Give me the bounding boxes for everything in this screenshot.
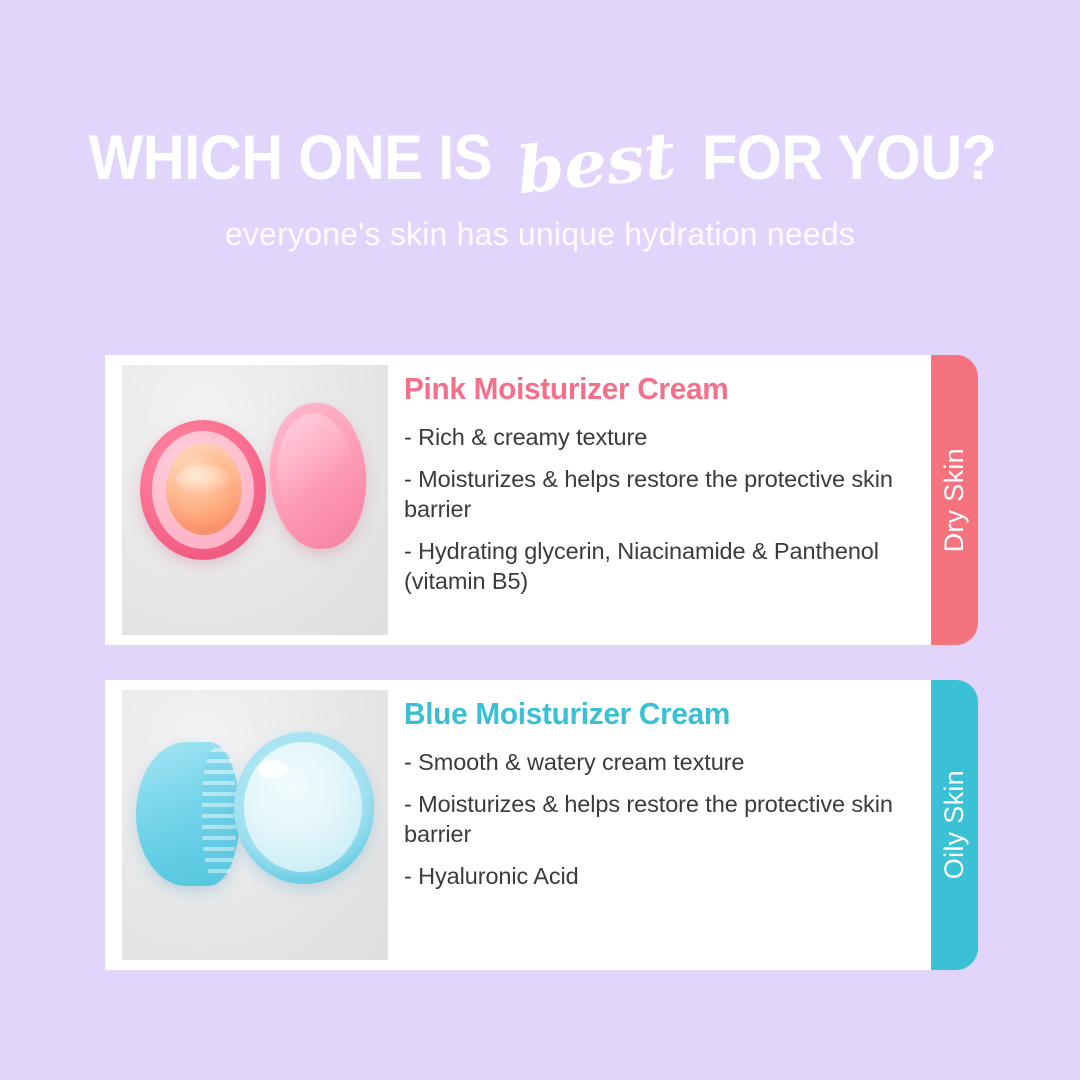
- product-card-pink[interactable]: Pink Moisturizer Cream - Rich & creamy t…: [105, 355, 931, 645]
- product-bullet: - Moisturizes & helps restore the protec…: [404, 464, 909, 524]
- product-bullet: - Hydrating glycerin, Niacinamide & Pant…: [404, 536, 909, 596]
- product-details-blue: Blue Moisturizer Cream - Smooth & watery…: [388, 680, 931, 970]
- skin-type-tab-label: Dry Skin: [939, 448, 970, 552]
- product-bullet: - Moisturizes & helps restore the protec…: [404, 789, 909, 849]
- headline-pre-text: WHICH ONE IS: [89, 127, 492, 190]
- headline-post-text: FOR YOU?: [701, 127, 996, 190]
- blue-cream-shape: [244, 742, 362, 872]
- header: WHICH ONE IS best FOR YOU? everyone's sk…: [0, 0, 1080, 253]
- pink-jar-lid-shape: [265, 400, 371, 552]
- product-image-blue: [122, 690, 388, 960]
- product-title-pink: Pink Moisturizer Cream: [404, 373, 889, 406]
- skin-type-tab-label: Oily Skin: [939, 770, 970, 879]
- product-details-pink: Pink Moisturizer Cream - Rich & creamy t…: [388, 355, 931, 645]
- blue-jar-photo: [122, 690, 388, 960]
- product-bullet: - Smooth & watery cream texture: [404, 747, 909, 777]
- page-title: WHICH ONE IS best FOR YOU?: [0, 126, 1080, 190]
- product-image-pink: [122, 365, 388, 635]
- pink-cream-shape: [166, 443, 242, 535]
- product-bullet: - Rich & creamy texture: [404, 422, 909, 452]
- product-bullet: - Hyaluronic Acid: [404, 861, 909, 891]
- blue-jar-lid-shape: [136, 742, 240, 886]
- product-title-blue: Blue Moisturizer Cream: [404, 698, 889, 731]
- product-card-blue[interactable]: Blue Moisturizer Cream - Smooth & watery…: [105, 680, 931, 970]
- product-card-list: Pink Moisturizer Cream - Rich & creamy t…: [105, 355, 975, 970]
- page-subtitle: everyone's skin has unique hydration nee…: [0, 216, 1080, 253]
- skin-type-tab-dry[interactable]: Dry Skin: [931, 355, 978, 645]
- pink-jar-photo: [122, 365, 388, 635]
- skin-type-tab-oily[interactable]: Oily Skin: [931, 680, 978, 970]
- headline-script-word: best: [499, 123, 693, 206]
